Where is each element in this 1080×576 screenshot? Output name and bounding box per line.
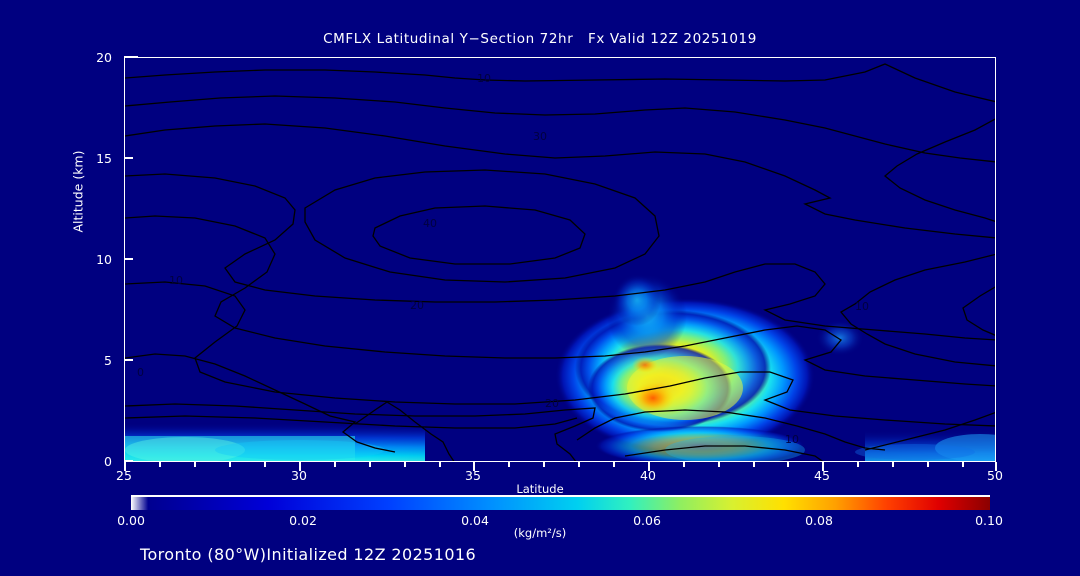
contour-label: 10 [477,72,491,85]
x-tick-mark [857,462,859,467]
y-tick-label: 20 [72,50,112,65]
plot-area: 10 30 40 10 20 0 20 10 10 [124,57,996,462]
footer-caption: Toronto (80°W)Initialized 12Z 20251016 [140,545,476,564]
grads-plot-window: CMFLX Latitudinal Y−Section 72hr Fx Vali… [0,0,1080,576]
y-tick-label: 0 [72,454,112,469]
x-tick-mark [159,462,161,467]
colorbar [131,497,990,510]
x-tick-mark [404,462,406,467]
contour-label: 20 [410,299,424,312]
x-tick-mark [439,462,441,467]
x-tick-mark [229,462,231,467]
x-tick-mark [194,462,196,467]
contour-label: 10 [855,300,869,313]
y-tick-label: 5 [72,353,112,368]
y-tick-mark [124,258,133,260]
shade-surface-band-south [125,423,425,462]
x-tick-label: 50 [970,468,1020,483]
page-title: CMFLX Latitudinal Y−Section 72hr Fx Vali… [0,31,1080,47]
y-axis-label: Altitude (km) [71,142,86,242]
plot-frame: 10 30 40 10 20 0 20 10 10 [124,57,996,462]
colorbar-gradient [131,497,990,510]
x-tick-label: 40 [623,468,673,483]
contour-label: 40 [423,217,437,230]
x-tick-mark [264,462,266,467]
x-tick-mark [613,462,615,467]
x-tick-label: 30 [274,468,324,483]
y-tick-label: 10 [72,252,112,267]
x-tick-mark [962,462,964,467]
x-tick-mark [369,462,371,467]
x-axis-label: Latitude [0,482,1080,496]
x-tick-mark [334,462,336,467]
x-tick-mark [578,462,580,467]
x-tick-label: 25 [99,468,149,483]
contour-label: 0 [137,366,144,379]
cross-section-canvas: 10 30 40 10 20 0 20 10 10 [125,58,996,462]
x-tick-mark [718,462,720,467]
contour-label: 10 [785,433,799,446]
x-tick-mark [753,462,755,467]
y-tick-mark [124,56,138,58]
x-tick-mark [683,462,685,467]
contour-label: 20 [545,397,559,410]
x-tick-mark [508,462,510,467]
y-tick-mark [124,157,133,159]
x-tick-mark [892,462,894,467]
x-tick-label: 35 [448,468,498,483]
y-tick-mark [124,359,133,361]
contour-label: 30 [533,130,547,143]
contour-label: 10 [169,274,183,287]
x-tick-mark [787,462,789,467]
colorbar-units-label: (kg/m²/s) [0,526,1080,540]
x-tick-mark [543,462,545,467]
x-tick-label: 45 [797,468,847,483]
x-tick-mark [927,462,929,467]
